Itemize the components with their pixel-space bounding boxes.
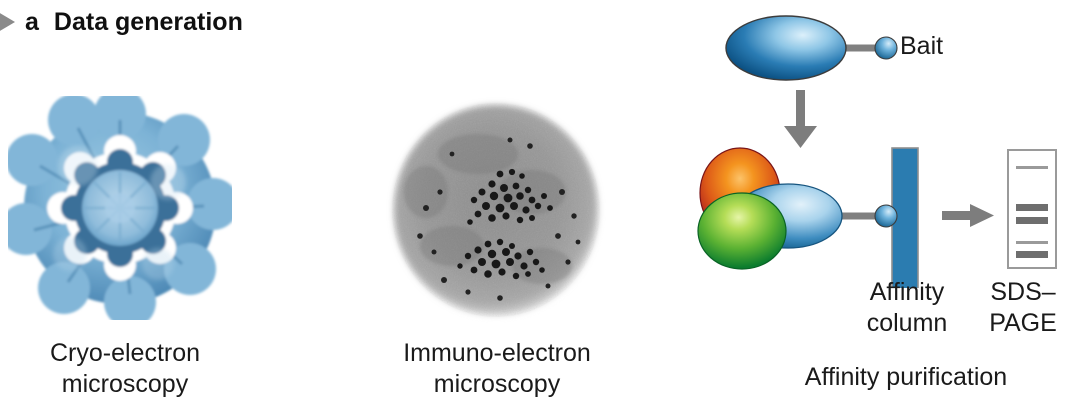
cryo-em-image	[8, 96, 232, 320]
affinity-column-label: Affinity column	[852, 277, 962, 338]
caption-affinity-purification: Affinity purification	[740, 362, 1072, 393]
panel-letter: a	[25, 8, 39, 37]
page-title: Data generation	[54, 8, 243, 37]
figure-panel-data-generation: a Data generation	[0, 0, 1072, 419]
caption-immuno-electron-microscopy: Immuno-electron microscopy	[366, 338, 628, 399]
caption-cryo-electron-microscopy: Cryo-electron microscopy	[0, 338, 250, 399]
bait-label: Bait	[900, 32, 943, 61]
sds-page-label: SDS– PAGE	[975, 277, 1071, 338]
affinity-purification-diagram	[690, 8, 1072, 288]
panel-header: a Data generation	[0, 4, 243, 40]
immuno-em-image	[382, 96, 610, 324]
triangle-right-icon	[0, 12, 15, 32]
